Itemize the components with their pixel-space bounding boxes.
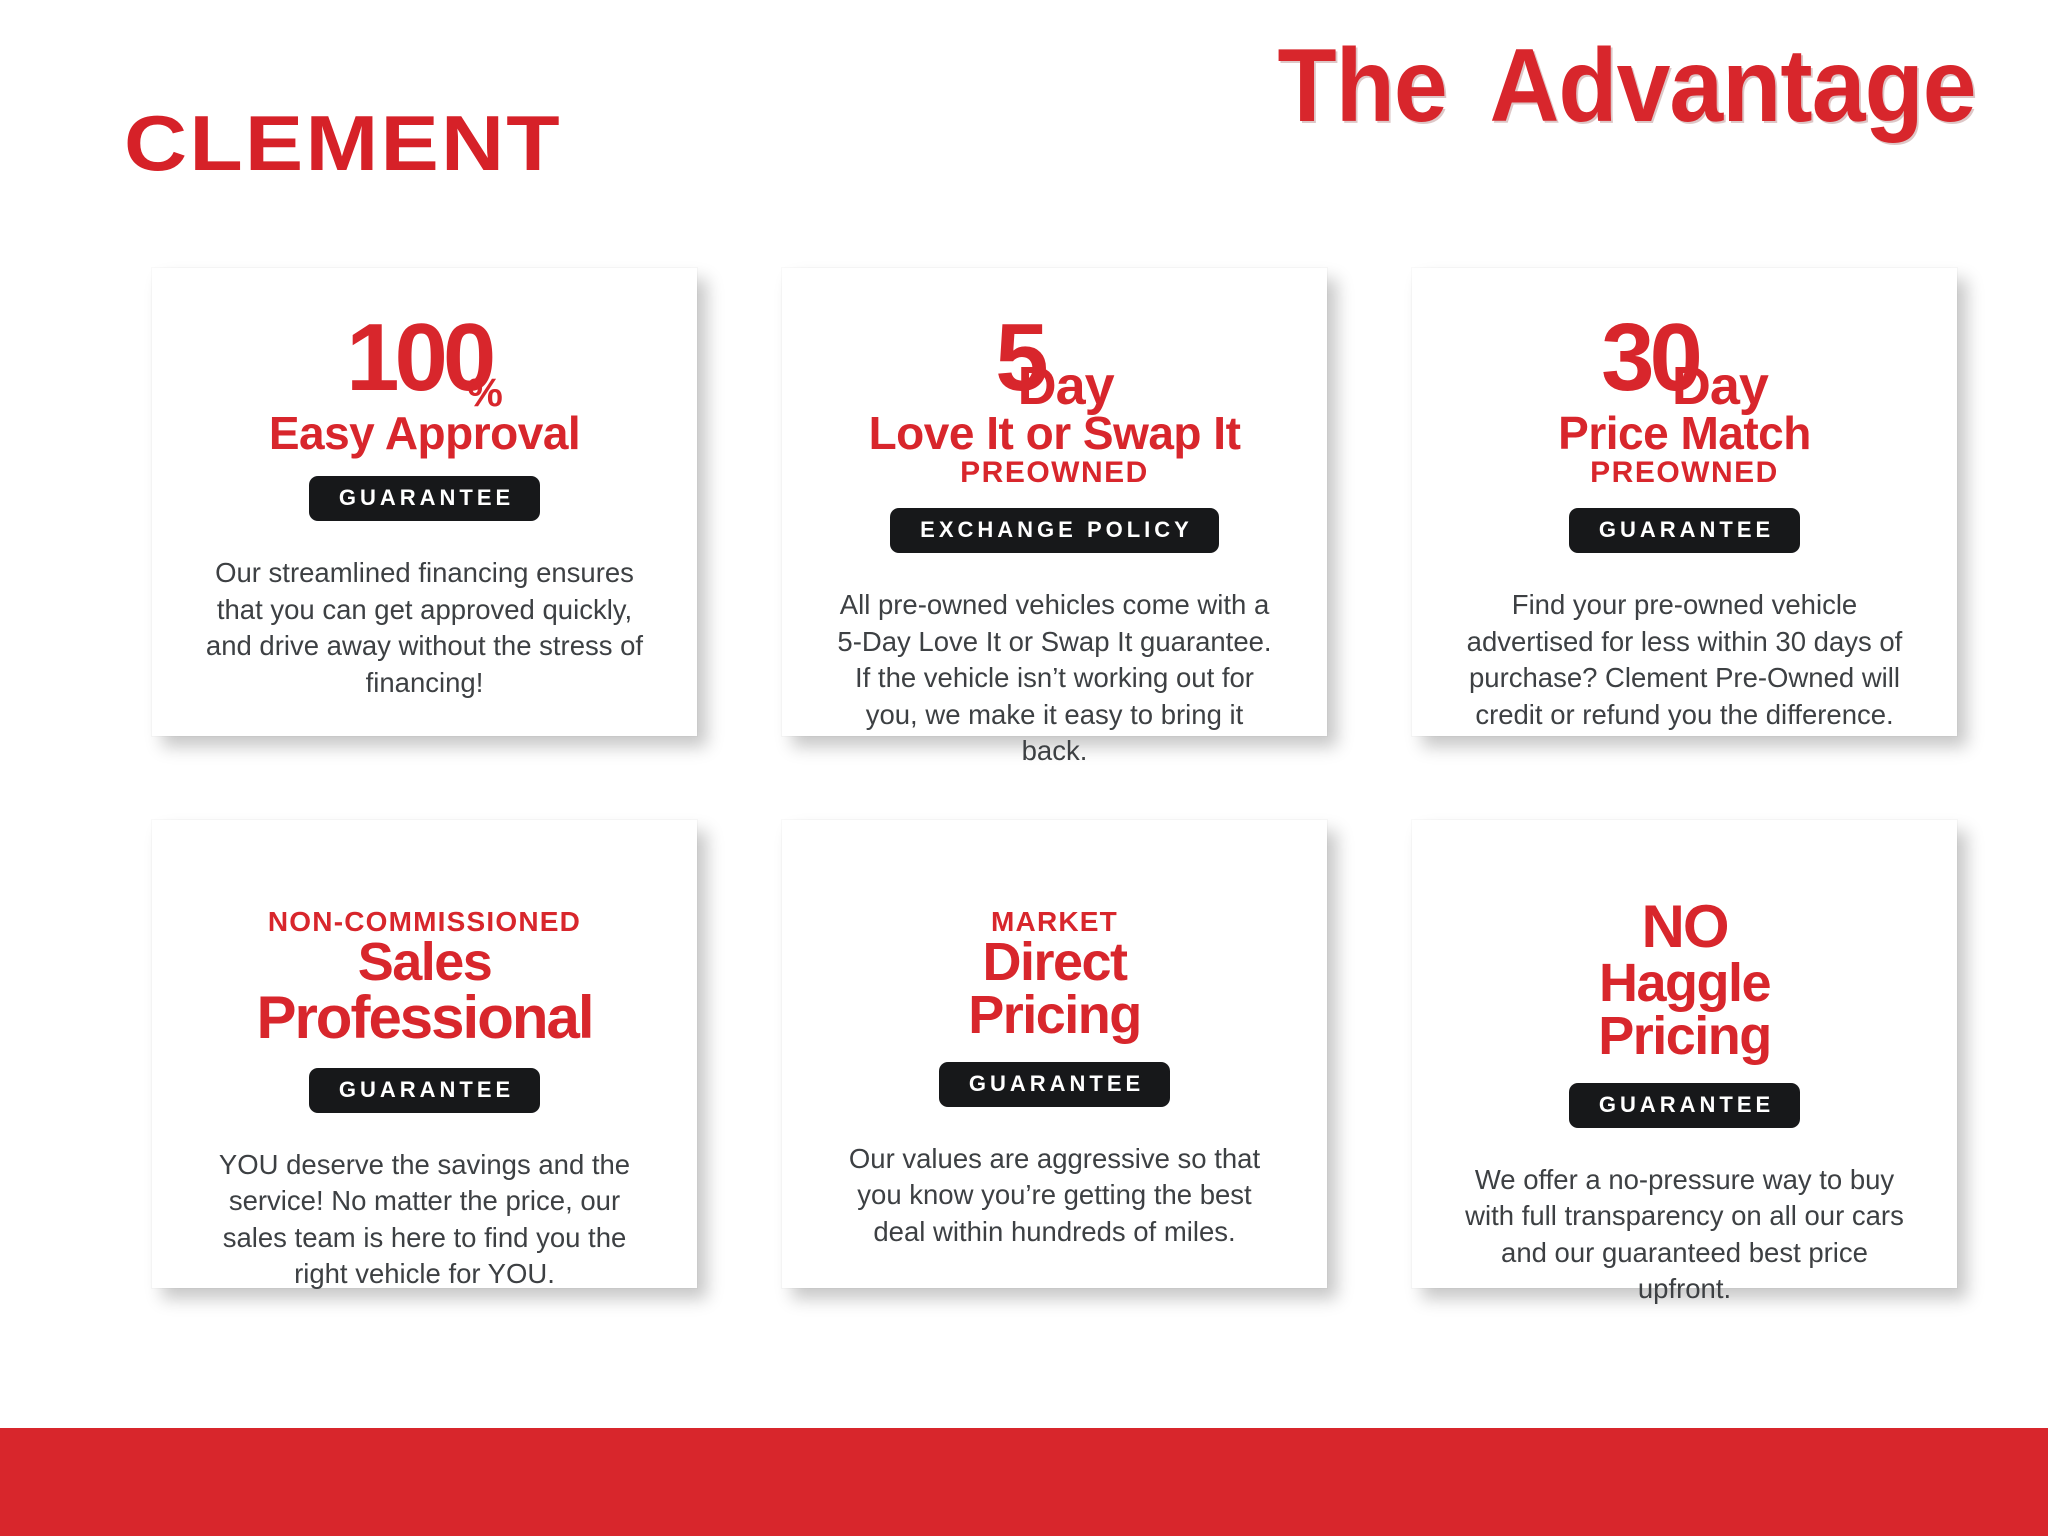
headline-word-1: Sales	[256, 936, 592, 989]
exchange-policy-badge: EXCHANGE POLICY	[890, 508, 1219, 553]
headline-word-1: Haggle	[1598, 957, 1771, 1010]
page-title-the: The	[1278, 28, 1447, 144]
guarantee-badge: GUARANTEE	[309, 476, 540, 521]
headline-main-line: Love It or Swap It	[869, 410, 1241, 456]
guarantee-badge: GUARANTEE	[1569, 508, 1800, 553]
advantage-card-non-commissioned-sales[interactable]: NON-COMMISSIONED Sales Professional GUAR…	[152, 820, 697, 1288]
card-headline: NON-COMMISSIONED Sales Professional	[256, 908, 592, 1048]
logo-slit-lower	[62, 99, 532, 106]
headline-word-2: Professional	[256, 989, 592, 1048]
headline-word-2: Pricing	[1598, 1010, 1771, 1063]
advantage-card-love-it-or-swap-it[interactable]: 5Day Love It or Swap It PREOWNED EXCHANG…	[782, 268, 1327, 736]
card-body-text: Our values are aggressive so that you kn…	[832, 1141, 1277, 1251]
advantage-card-no-haggle-pricing[interactable]: NO Haggle Pricing GUARANTEE We offer a n…	[1412, 820, 1957, 1288]
headline-main-line: Price Match	[1558, 410, 1811, 456]
headline-percent-suffix: %	[467, 373, 503, 413]
page-header: CLEMENT TheAdvantage	[0, 0, 2048, 190]
card-row-2: NON-COMMISSIONED Sales Professional GUAR…	[0, 820, 2048, 1290]
card-headline: 5Day Love It or Swap It PREOWNED	[869, 310, 1241, 488]
card-body-text: We offer a no-pressure way to buy with f…	[1462, 1162, 1907, 1308]
card-body-text: All pre-owned vehicles come with a 5-Day…	[832, 587, 1277, 770]
headline-lockup: 30Day	[1601, 310, 1768, 406]
clement-logo-text: CLEMENT	[124, 104, 562, 182]
card-body-text: Our streamlined financing ensures that y…	[202, 555, 647, 701]
headline-word-2: Pricing	[968, 989, 1141, 1042]
page-title-advantage: Advantage	[1490, 28, 1976, 144]
card-headline: MARKET Direct Pricing	[968, 908, 1141, 1042]
headline-main-line: Easy Approval	[269, 410, 580, 456]
guarantee-badge: GUARANTEE	[1569, 1083, 1800, 1128]
guarantee-badge: GUARANTEE	[309, 1068, 540, 1113]
headline-word-1: Direct	[968, 936, 1141, 989]
page-title: TheAdvantage	[1278, 34, 1976, 138]
headline-kicker: NO	[1598, 898, 1771, 957]
card-headline: NO Haggle Pricing	[1598, 898, 1771, 1063]
card-headline: 30Day Price Match PREOWNED	[1558, 310, 1811, 488]
advantage-card-easy-approval[interactable]: 100% Easy Approval GUARANTEE Our streaml…	[152, 268, 697, 736]
advantage-card-price-match[interactable]: 30Day Price Match PREOWNED GUARANTEE Fin…	[1412, 268, 1957, 736]
headline-lockup: 5Day	[995, 310, 1113, 406]
headline-lockup: 100%	[346, 310, 503, 406]
footer-bar	[0, 1428, 2048, 1536]
advantage-card-market-direct-pricing[interactable]: MARKET Direct Pricing GUARANTEE Our valu…	[782, 820, 1327, 1288]
card-headline: 100% Easy Approval	[269, 310, 580, 456]
headline-day-suffix: Day	[1672, 359, 1768, 413]
guarantee-badge: GUARANTEE	[939, 1062, 1170, 1107]
card-row-1: 100% Easy Approval GUARANTEE Our streaml…	[0, 268, 2048, 738]
headline-sub-line: PREOWNED	[869, 458, 1241, 488]
logo-slit-upper	[62, 74, 532, 81]
card-body-text: Find your pre-owned vehicle advertised f…	[1462, 587, 1907, 733]
advantage-card-grid: 100% Easy Approval GUARANTEE Our streaml…	[0, 268, 2048, 1290]
headline-sub-line: PREOWNED	[1558, 458, 1811, 488]
card-body-text: YOU deserve the savings and the service!…	[202, 1147, 647, 1293]
headline-day-suffix: Day	[1018, 359, 1114, 413]
